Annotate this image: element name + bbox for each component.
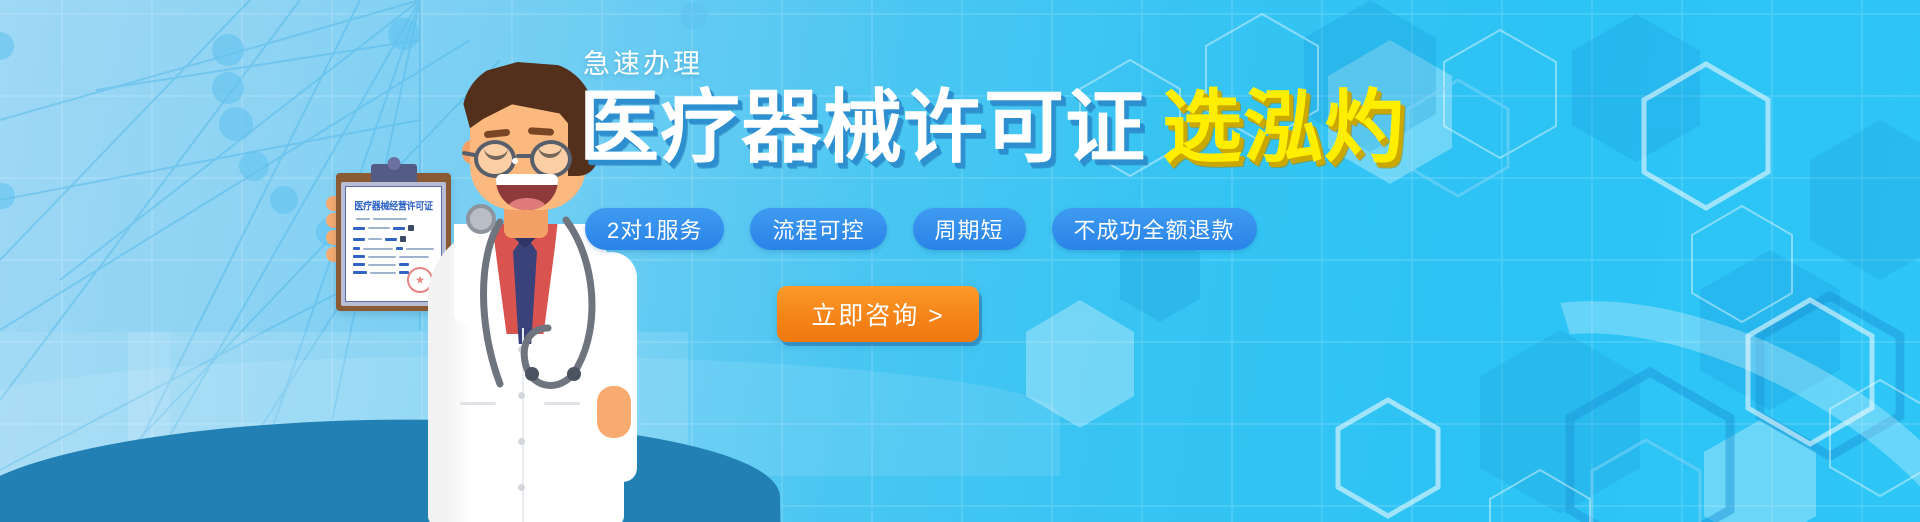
headline-highlight-text: 选泓灼 xyxy=(1162,83,1405,172)
banner-content: 急速办理 医疗器械许可证选泓灼 2对1服务 流程可控 周期短 不成功全额退款 立… xyxy=(583,0,1303,522)
pale-block-left xyxy=(0,332,170,482)
banner-eyebrow: 急速办理 xyxy=(583,42,703,81)
coat-pocket xyxy=(544,402,580,405)
banner-headline: 医疗器械许可证选泓灼 xyxy=(579,88,1405,168)
coat-pocket xyxy=(460,402,496,405)
coat-button xyxy=(518,484,525,491)
coat-button xyxy=(518,438,525,445)
clipboard-knob-icon xyxy=(387,157,400,170)
feature-pill[interactable]: 不成功全额退款 xyxy=(1052,208,1257,250)
feature-pill[interactable]: 2对1服务 xyxy=(585,208,724,250)
right-arc xyxy=(1379,216,1920,522)
feature-pill[interactable]: 流程可控 xyxy=(750,208,886,250)
feature-pill-list: 2对1服务 流程可控 周期短 不成功全额退款 xyxy=(585,208,1257,250)
lens-glint xyxy=(512,158,518,164)
stethoscope-bell-icon xyxy=(466,204,496,234)
promo-banner: 医疗器械经营许可证 xyxy=(0,0,1920,522)
feature-pill[interactable]: 周期短 xyxy=(913,208,1026,250)
consult-now-button[interactable]: 立即咨询 > xyxy=(777,286,979,342)
headline-primary-text: 医疗器械许可证 xyxy=(579,83,1146,172)
